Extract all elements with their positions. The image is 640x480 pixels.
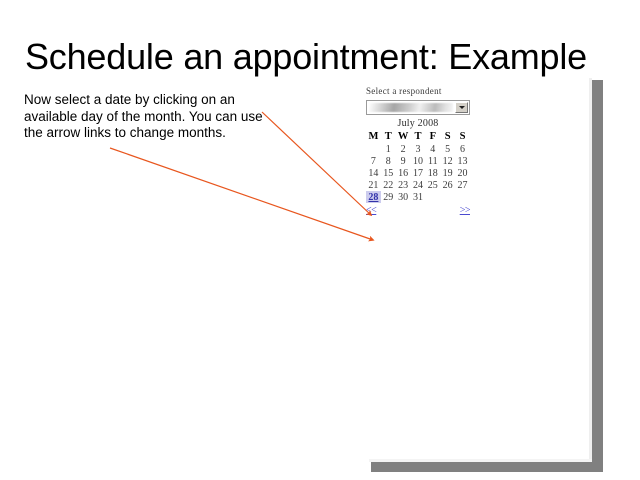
calendar-weekday: M [366,130,381,143]
calendar-day[interactable]: 22 [381,179,396,191]
calendar-week-row: 123456 [366,143,470,155]
calendar-body: 1234567891011121314151617181920212223242… [366,143,470,203]
calendar-day[interactable]: 20 [455,167,470,179]
slide-shadow-right [592,80,603,465]
calendar-day[interactable]: 25 [425,179,440,191]
calendar-day[interactable]: 31 [411,191,426,203]
respondent-label: Select a respondent [366,86,486,96]
calendar-day[interactable]: 10 [411,155,426,167]
calendar-weekday: W [396,130,411,143]
calendar-day[interactable]: 11 [425,155,440,167]
calendar-day-empty [366,143,381,155]
calendar-day[interactable]: 2 [396,143,411,155]
calendar-day[interactable]: 4 [425,143,440,155]
calendar-weekday-row: M T W T F S S [366,130,470,143]
slide-shadow-bottom [371,462,603,472]
calendar-day[interactable]: 27 [455,179,470,191]
calendar-day-link[interactable]: 28 [368,192,378,203]
calendar-day[interactable]: 17 [411,167,426,179]
calendar-table: M T W T F S S 12345678910111213141516171… [366,130,470,203]
calendar-weekday: S [440,130,455,143]
calendar-day[interactable]: 8 [381,155,396,167]
chevron-down-icon[interactable] [455,102,468,113]
calendar-day-selected[interactable]: 28 [366,191,381,203]
calendar-day[interactable]: 6 [455,143,470,155]
calendar-month-title: July 2008 [366,118,470,129]
page-title: Schedule an appointment: Example [0,36,612,78]
calendar-day-empty [425,191,440,203]
calendar-day-empty [440,191,455,203]
calendar-day[interactable]: 5 [440,143,455,155]
calendar-weekday: F [425,130,440,143]
calendar-prev-month-link[interactable]: << [366,205,376,216]
calendar-day[interactable]: 18 [425,167,440,179]
calendar-day[interactable]: 9 [396,155,411,167]
calendar-day[interactable]: 3 [411,143,426,155]
calendar-day[interactable]: 26 [440,179,455,191]
calendar-day[interactable]: 16 [396,167,411,179]
calendar-week-row: 28293031 [366,191,470,203]
calendar-day[interactable]: 12 [440,155,455,167]
calendar-day-empty [455,191,470,203]
calendar-widget: Select a respondent July 2008 M T W T F … [366,86,486,216]
respondent-select[interactable] [366,100,470,115]
calendar-week-row: 78910111213 [366,155,470,167]
calendar-day[interactable]: 7 [366,155,381,167]
calendar-day[interactable]: 14 [366,167,381,179]
calendar-day[interactable]: 21 [366,179,381,191]
calendar-day[interactable]: 13 [455,155,470,167]
calendar-week-row: 14151617181920 [366,167,470,179]
arrow-to-month-links [110,148,373,240]
calendar-day[interactable]: 24 [411,179,426,191]
respondent-select-value [369,103,453,112]
calendar-day[interactable]: 23 [396,179,411,191]
calendar-day[interactable]: 19 [440,167,455,179]
calendar-day[interactable]: 30 [396,191,411,203]
calendar-weekday: T [411,130,426,143]
calendar-weekday: T [381,130,396,143]
calendar-day[interactable]: 15 [381,167,396,179]
calendar-nav: << >> [366,205,470,216]
calendar-day[interactable]: 1 [381,143,396,155]
calendar-week-row: 21222324252627 [366,179,470,191]
instruction-text: Now select a date by clicking on an avai… [24,92,272,142]
calendar-weekday: S [455,130,470,143]
calendar-next-month-link[interactable]: >> [460,205,470,216]
arrow-to-date-grid [262,112,371,215]
calendar-day[interactable]: 29 [381,191,396,203]
